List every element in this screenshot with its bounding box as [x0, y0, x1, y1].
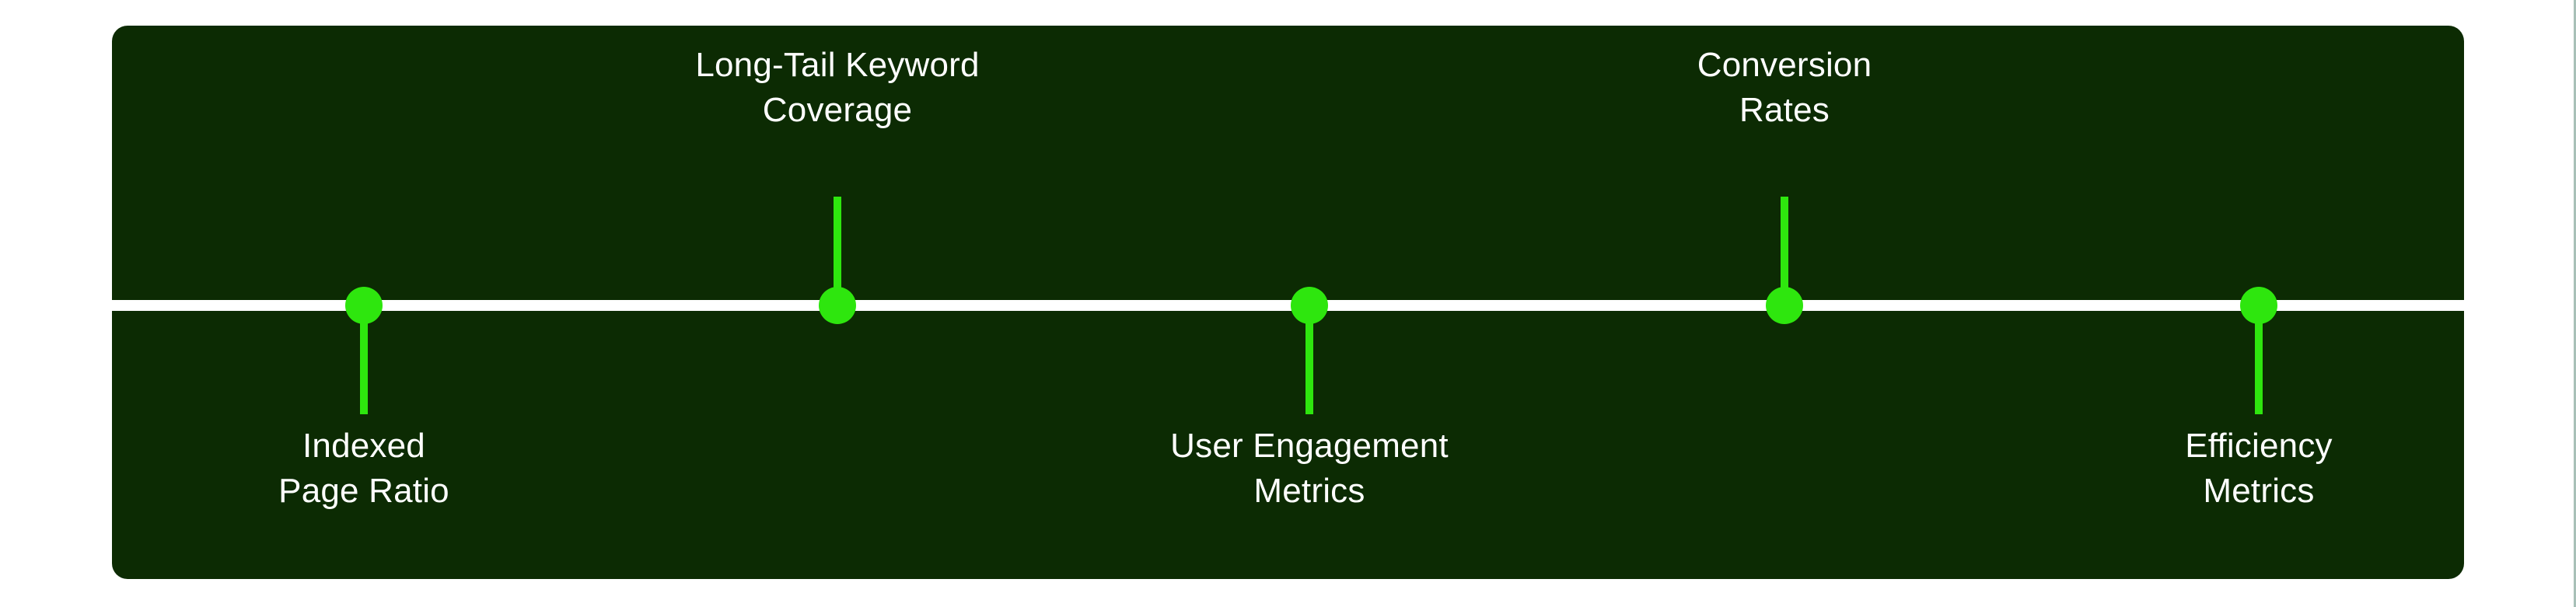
milestone-label-line-2: Metrics: [2010, 469, 2508, 514]
milestone-dot-icon[interactable]: [2240, 287, 2277, 324]
milestone-label-line-1: Efficiency: [2010, 424, 2508, 469]
milestone-dot-icon[interactable]: [819, 287, 856, 324]
milestone-label: User Engagement Metrics: [1061, 424, 1558, 514]
milestone-label-line-1: User Engagement: [1061, 424, 1558, 469]
milestone-label-line-1: Long-Tail Keyword: [589, 43, 1086, 88]
milestone-label: Efficiency Metrics: [2010, 424, 2508, 514]
milestone-dot-icon[interactable]: [1291, 287, 1328, 324]
timeline-axis: [112, 300, 2464, 311]
milestone-label-line-1: Indexed: [115, 424, 613, 469]
milestone-label: Long-Tail Keyword Coverage: [589, 43, 1086, 133]
diagram-canvas: Indexed Page Ratio Long-Tail Keyword Cov…: [0, 0, 2576, 607]
milestone-dot-icon[interactable]: [1766, 287, 1803, 324]
milestone-label-line-2: Coverage: [589, 88, 1086, 133]
timeline-card: Indexed Page Ratio Long-Tail Keyword Cov…: [112, 26, 2464, 579]
milestone-label-line-2: Page Ratio: [115, 469, 613, 514]
milestone-dot-icon[interactable]: [345, 287, 383, 324]
milestone-label: Conversion Rates: [1536, 43, 2033, 133]
milestone-label-line-1: Conversion: [1536, 43, 2033, 88]
milestone-label-line-2: Rates: [1536, 88, 2033, 133]
milestone-label: Indexed Page Ratio: [115, 424, 613, 514]
milestone-label-line-2: Metrics: [1061, 469, 1558, 514]
